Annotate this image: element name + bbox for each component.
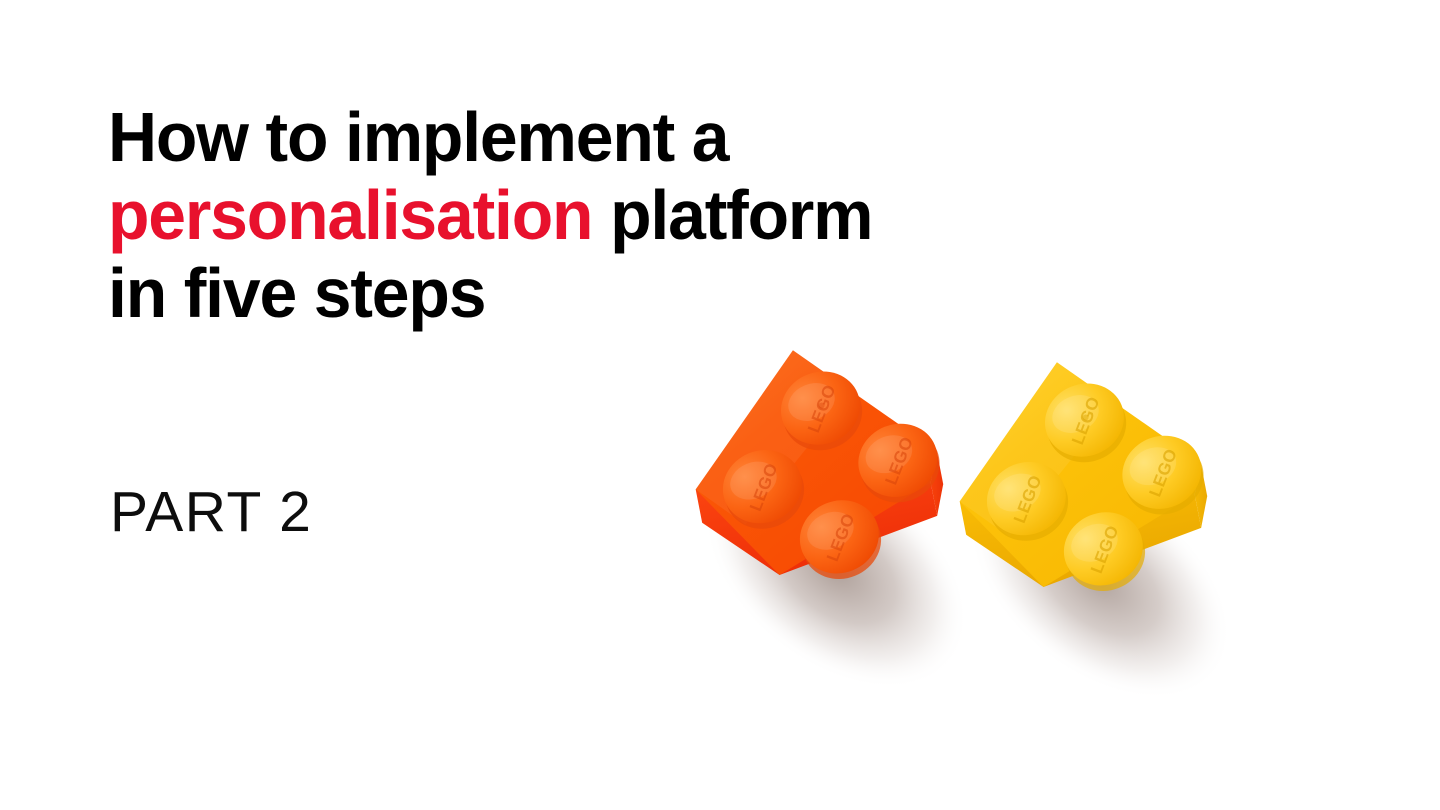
headline-line-2-tail: platform (592, 176, 872, 254)
slide-canvas: How to implement a personalisation platf… (0, 0, 1440, 810)
page-title: How to implement a personalisation platf… (108, 98, 1136, 332)
part-label: PART 2 (110, 481, 312, 543)
headline-line-1: How to implement a (108, 98, 1136, 176)
headline-highlight-word: personalisation (108, 176, 592, 254)
headline-line-2: personalisation platform (108, 176, 1136, 254)
lego-bricks-image: LEGO LEGO LEGO (600, 320, 1300, 720)
